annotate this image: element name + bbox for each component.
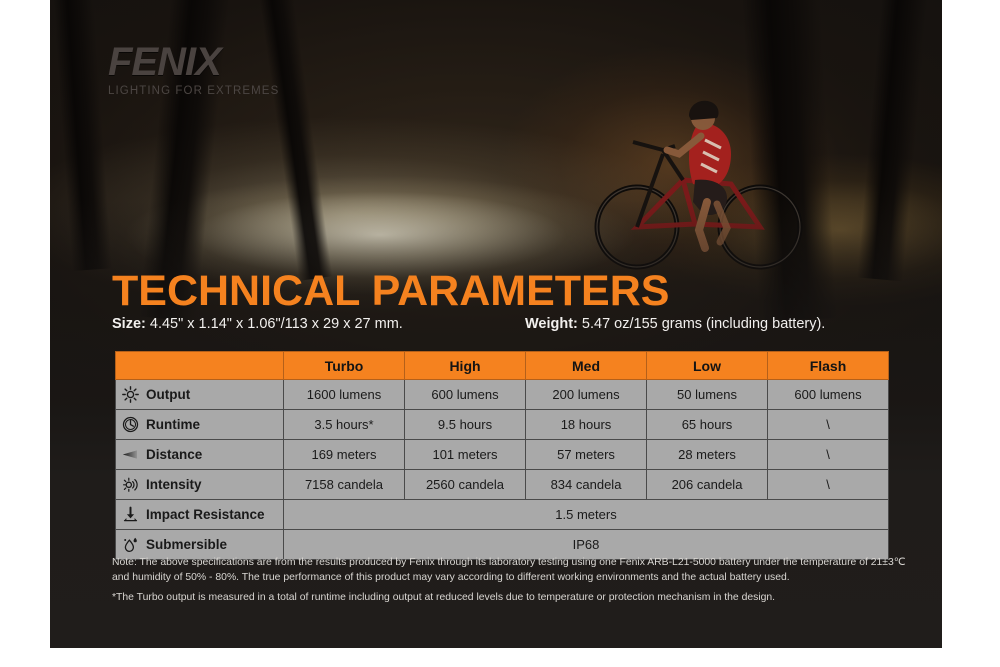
clock-icon xyxy=(122,416,139,433)
table-row: Distance 169 meters 101 meters 57 meters… xyxy=(116,440,889,470)
dark-content-panel: FENIX LIGHTING FOR EXTREMES TECHNICAL PA… xyxy=(50,0,942,648)
cell-submersible-value: IP68 xyxy=(284,530,889,560)
cell-distance-flash: \ xyxy=(768,440,889,470)
table-row: Output 1600 lumens 600 lumens 200 lumens… xyxy=(116,380,889,410)
row-label-text: Runtime xyxy=(146,417,200,432)
impact-arrow-icon xyxy=(122,506,139,523)
logo-tagline: LIGHTING FOR EXTREMES xyxy=(108,85,318,97)
footnote-star-note: *The Turbo output is measured in a total… xyxy=(112,591,918,606)
cell-runtime-flash: \ xyxy=(768,410,889,440)
column-header-low: Low xyxy=(647,352,768,380)
column-header-med: Med xyxy=(526,352,647,380)
size-spec: Size: 4.45" x 1.14" x 1.06"/113 x 29 x 2… xyxy=(112,316,403,332)
row-label-text: Submersible xyxy=(146,537,227,552)
cell-output-med: 200 lumens xyxy=(526,380,647,410)
table-row: Impact Resistance 1.5 meters xyxy=(116,500,889,530)
sun-icon xyxy=(122,386,139,403)
row-label-submersible: Submersible xyxy=(116,530,284,560)
table-row: Intensity 7158 candela 2560 candela 834 … xyxy=(116,470,889,500)
row-label-output: Output xyxy=(116,380,284,410)
cell-intensity-low: 206 candela xyxy=(647,470,768,500)
size-weight-line: Size: 4.45" x 1.14" x 1.06"/113 x 29 x 2… xyxy=(112,316,912,336)
cell-runtime-med: 18 hours xyxy=(526,410,647,440)
cell-impact-resistance-value: 1.5 meters xyxy=(284,500,889,530)
product-spec-page: FENIX LIGHTING FOR EXTREMES TECHNICAL PA… xyxy=(0,0,1000,667)
table-corner-cell xyxy=(116,352,284,380)
row-label-impact-resistance: Impact Resistance xyxy=(116,500,284,530)
cell-output-flash: 600 lumens xyxy=(768,380,889,410)
fenix-logo: FENIX LIGHTING FOR EXTREMES xyxy=(108,42,318,97)
technical-parameters-table: Turbo High Med Low Flash xyxy=(115,351,889,560)
cell-intensity-med: 834 candela xyxy=(526,470,647,500)
table-row: Runtime 3.5 hours* 9.5 hours 18 hours 65… xyxy=(116,410,889,440)
row-label-text: Intensity xyxy=(146,477,202,492)
cell-output-turbo: 1600 lumens xyxy=(284,380,405,410)
table-header-row: Turbo High Med Low Flash xyxy=(116,352,889,380)
cell-intensity-high: 2560 candela xyxy=(405,470,526,500)
cell-distance-turbo: 169 meters xyxy=(284,440,405,470)
cell-output-high: 600 lumens xyxy=(405,380,526,410)
footnote-note: Note: The above specifications are from … xyxy=(112,556,918,586)
cell-distance-low: 28 meters xyxy=(647,440,768,470)
row-label-distance: Distance xyxy=(116,440,284,470)
cell-output-low: 50 lumens xyxy=(647,380,768,410)
weight-label: Weight: xyxy=(525,316,578,332)
beam-distance-icon xyxy=(122,446,139,463)
weight-value: 5.47 oz/155 grams (including battery). xyxy=(582,316,825,332)
table-row: Submersible IP68 xyxy=(116,530,889,560)
column-header-high: High xyxy=(405,352,526,380)
row-label-text: Output xyxy=(146,387,190,402)
page-title: TECHNICAL PARAMETERS xyxy=(112,270,669,313)
row-label-text: Distance xyxy=(146,447,202,462)
size-value: 4.45" x 1.14" x 1.06"/113 x 29 x 27 mm. xyxy=(150,316,403,332)
row-label-runtime: Runtime xyxy=(116,410,284,440)
row-label-text: Impact Resistance xyxy=(146,507,265,522)
cell-runtime-low: 65 hours xyxy=(647,410,768,440)
logo-wordmark: FENIX xyxy=(108,42,318,82)
row-label-intensity: Intensity xyxy=(116,470,284,500)
intensity-icon xyxy=(122,476,139,493)
footnote-block: Note: The above specifications are from … xyxy=(112,556,918,605)
column-header-flash: Flash xyxy=(768,352,889,380)
size-label: Size: xyxy=(112,316,146,332)
water-drop-icon xyxy=(122,536,139,553)
cell-intensity-flash: \ xyxy=(768,470,889,500)
weight-spec: Weight: 5.47 oz/155 grams (including bat… xyxy=(525,316,825,332)
cell-runtime-turbo: 3.5 hours* xyxy=(284,410,405,440)
cell-distance-high: 101 meters xyxy=(405,440,526,470)
cell-distance-med: 57 meters xyxy=(526,440,647,470)
cell-runtime-high: 9.5 hours xyxy=(405,410,526,440)
column-header-turbo: Turbo xyxy=(284,352,405,380)
cell-intensity-turbo: 7158 candela xyxy=(284,470,405,500)
